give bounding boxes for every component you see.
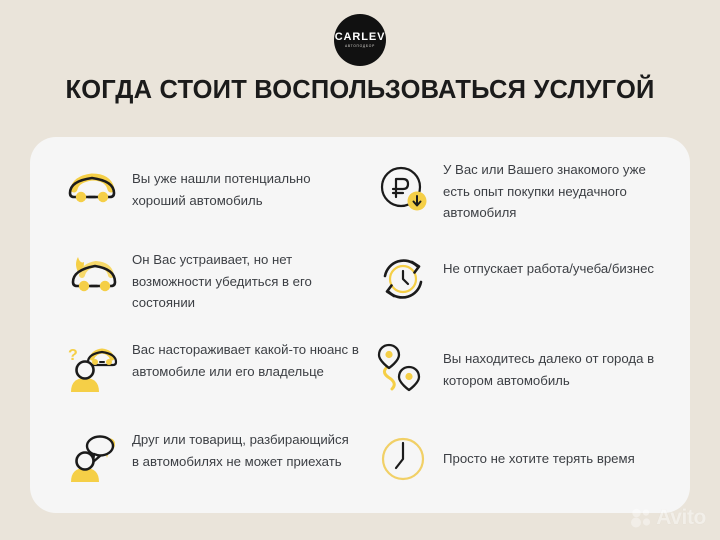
list-item: Друг или товарищ, разбирающийся в автомо… — [62, 429, 359, 513]
list-item-text: У Вас или Вашего знакомого уже есть опыт… — [443, 159, 676, 224]
list-item: Вы уже нашли потенциально хороший автомо… — [62, 159, 359, 243]
page-title: КОГДА СТОИТ ВОСПОЛЬЗОВАТЬСЯ УСЛУГОЙ — [0, 76, 720, 105]
benefits-right-column: У Вас или Вашего знакомого уже есть опыт… — [365, 149, 690, 513]
list-item-text: Вы находитесь далеко от города в котором… — [443, 339, 676, 391]
svg-text:?: ? — [68, 347, 78, 364]
avito-logo-icon — [631, 508, 653, 528]
ruble-down-icon — [373, 159, 433, 219]
benefits-card: Вы уже нашли потенциально хороший автомо… — [30, 137, 690, 513]
clock-refresh-icon — [373, 249, 433, 309]
avito-watermark-label: Avito — [656, 506, 706, 530]
car-smoke-icon — [62, 249, 122, 309]
logo-tagline: АВТОПОДБОР — [345, 45, 375, 48]
logo-name: CARLEV — [335, 32, 386, 43]
list-item: Вы находитесь далеко от города в котором… — [373, 339, 676, 423]
car-outline-icon — [62, 159, 122, 219]
benefits-left-column: Вы уже нашли потенциально хороший автомо… — [30, 149, 365, 513]
list-item-text: Он Вас устраивает, но нет возможности уб… — [132, 249, 359, 314]
list-item-text: Вас настораживает какой-то нюанс в автом… — [132, 339, 359, 382]
benefits-columns: Вы уже нашли потенциально хороший автомо… — [30, 137, 690, 513]
list-item-text: Вы уже нашли потенциально хороший автомо… — [132, 159, 359, 211]
person-question-car-icon: ? — [62, 339, 122, 399]
map-route-pins-icon — [373, 339, 433, 399]
list-item: У Вас или Вашего знакомого уже есть опыт… — [373, 159, 676, 243]
list-item-text: Не отпускает работа/учеба/бизнес — [443, 249, 654, 280]
list-item: ? Вас настораживает какой-то нюанс в авт… — [62, 339, 359, 423]
clock-icon — [373, 429, 433, 489]
list-item: Просто не хотите терять время — [373, 429, 676, 513]
brand-logo: CARLEV АВТОПОДБОР — [0, 14, 720, 66]
avito-watermark: Avito — [631, 506, 706, 530]
list-item: Не отпускает работа/учеба/бизнес — [373, 249, 676, 333]
logo-circle: CARLEV АВТОПОДБОР — [334, 14, 386, 66]
list-item: Он Вас устраивает, но нет возможности уб… — [62, 249, 359, 333]
list-item-text: Друг или товарищ, разбирающийся в автомо… — [132, 429, 359, 472]
person-speech-bubble-icon — [62, 429, 122, 489]
list-item-text: Просто не хотите терять время — [443, 429, 635, 470]
